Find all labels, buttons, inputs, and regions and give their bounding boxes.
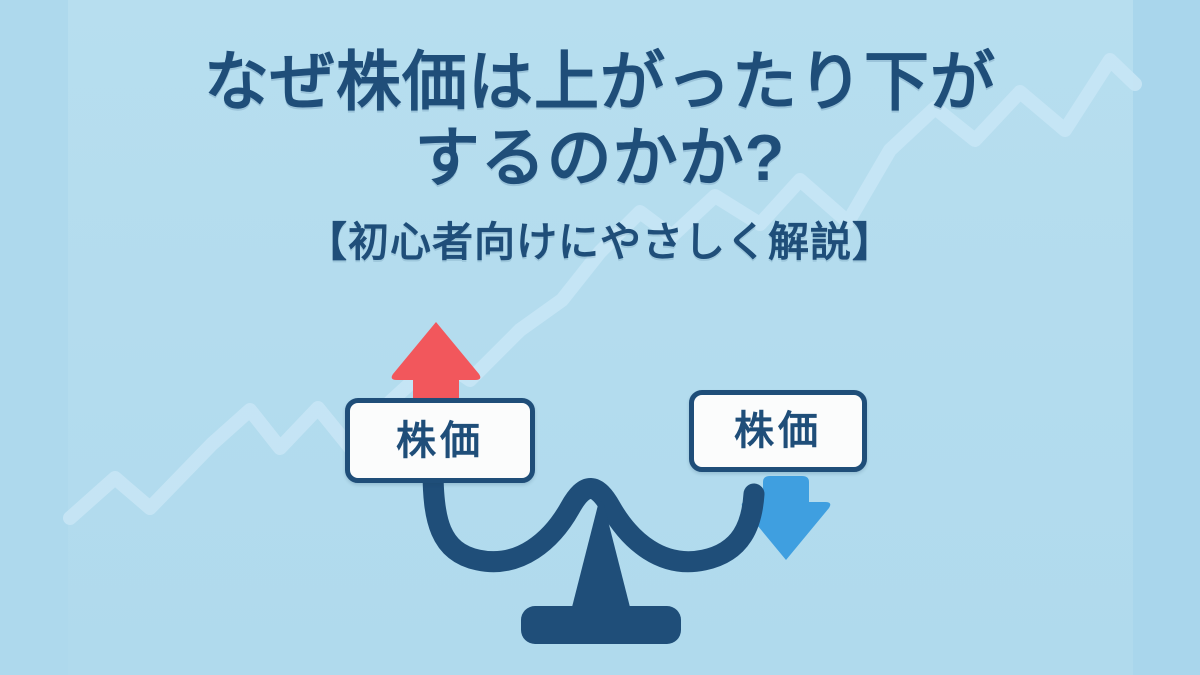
left-pan-chip[interactable]: 株価 bbox=[345, 398, 535, 483]
left-pan-chip-label: 株価 bbox=[396, 421, 484, 461]
arrow-up-icon bbox=[392, 322, 481, 406]
right-pan-chip-label: 株価 bbox=[734, 411, 822, 451]
balance-scale-graphic bbox=[0, 0, 1200, 675]
balance-scale-illustration: 株価 株価 bbox=[0, 0, 1200, 675]
poster-canvas: なぜ株価は上がったり下が するのかか? 【初心者向けにやさしく解説】 bbox=[0, 0, 1200, 675]
fulcrum bbox=[521, 502, 681, 645]
right-pan-chip[interactable]: 株価 bbox=[689, 390, 867, 472]
